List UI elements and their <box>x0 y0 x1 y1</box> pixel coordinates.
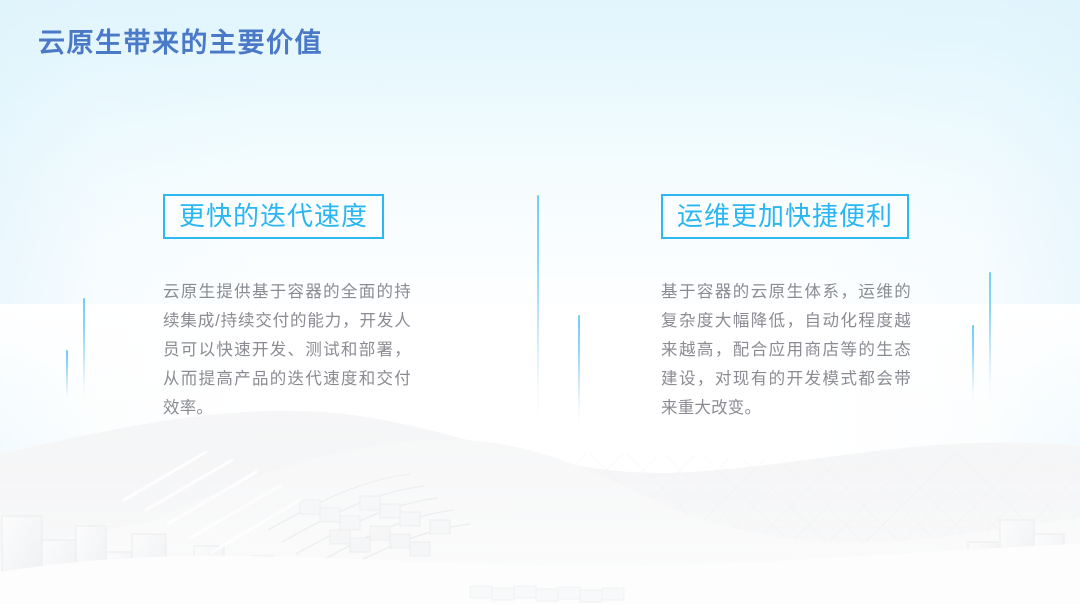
decor-rule-left-tall <box>83 298 85 402</box>
value-heading-label-left: 更快的迭代速度 <box>179 201 368 231</box>
page-title: 云原生带来的主要价值 <box>38 21 323 60</box>
decor-rule-center-tall <box>537 195 539 420</box>
value-heading-badge-right: 运维更加快捷便利 <box>661 194 909 239</box>
slide-canvas: 云原生带来的主要价值 更快的迭代速度 云原生提供基于容器的全面的持续集成/持续交… <box>0 0 1080 604</box>
value-column-right: 运维更加快捷便利 基于容器的云原生体系，运维的复杂度大幅降低，自动化程度越来越高… <box>661 194 961 423</box>
value-column-left: 更快的迭代速度 云原生提供基于容器的全面的持续集成/持续交付的能力，开发人员可以… <box>163 194 463 423</box>
value-heading-label-right: 运维更加快捷便利 <box>677 201 893 231</box>
decor-rule-left-short <box>66 350 68 402</box>
decor-rule-right-short <box>972 325 974 403</box>
value-body-left: 云原生提供基于容器的全面的持续集成/持续交付的能力，开发人员可以快速开发、测试和… <box>163 278 411 423</box>
value-body-right: 基于容器的云原生体系，运维的复杂度大幅降低，自动化程度越来越高，配合应用商店等的… <box>661 278 911 423</box>
decor-rule-right-tall <box>989 272 991 402</box>
value-heading-badge-left: 更快的迭代速度 <box>163 194 384 239</box>
decor-rule-center-short <box>578 315 580 425</box>
